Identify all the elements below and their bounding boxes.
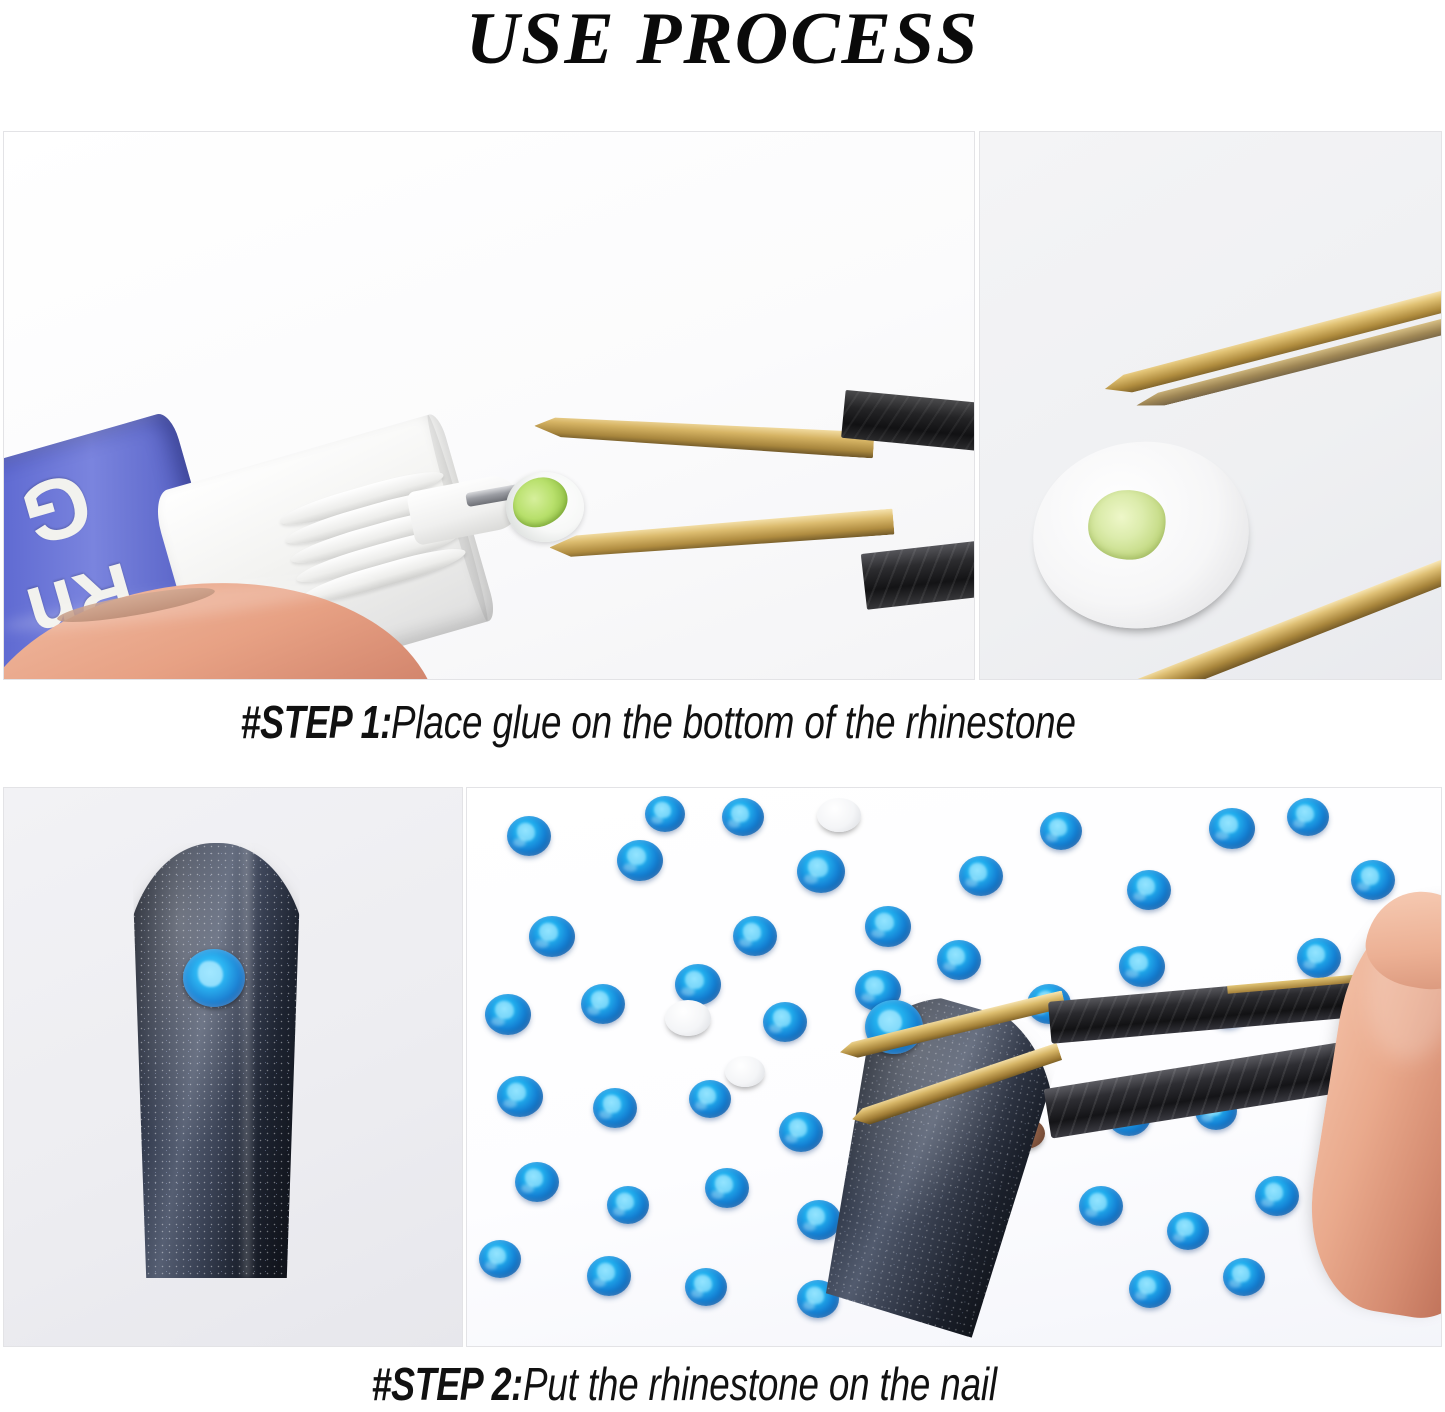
- rhinestone: [797, 1200, 841, 1240]
- rhinestone: [1223, 1258, 1265, 1296]
- rhinestone: [1167, 1212, 1209, 1250]
- rhinestone: [733, 916, 777, 956]
- step2-text: Put the rhinestone on the nail: [523, 1357, 997, 1411]
- rhinestone: [779, 1112, 823, 1152]
- rhinestone: [675, 964, 721, 1005]
- rhinestone: [479, 1240, 521, 1278]
- rhinestone: [1209, 808, 1255, 849]
- rhinestone: [485, 994, 531, 1035]
- rhinestone: [937, 940, 981, 980]
- rhinestone: [1127, 870, 1171, 910]
- rhinestone: [763, 1002, 807, 1042]
- rhinestone: [865, 906, 911, 947]
- applied-blue-rhinestone: [183, 949, 245, 1007]
- rhinestone: [497, 1076, 543, 1117]
- rhinestone-flat-back: [725, 1056, 765, 1087]
- rhinestone: [1351, 860, 1395, 900]
- step2-caption: #STEP 2:Put the rhinestone on the nail: [0, 1357, 1445, 1411]
- rhinestone: [593, 1088, 637, 1128]
- step2-tag: #STEP 2:: [372, 1357, 523, 1411]
- step1-rhinestone-backside-photo: [979, 131, 1442, 680]
- rhinestone: [1297, 938, 1341, 978]
- use-process-infographic: USE PROCESS G Rh: [0, 0, 1445, 1412]
- page-title: USE PROCESS: [0, 2, 1445, 76]
- rhinestone: [507, 816, 551, 856]
- rhinestone: [581, 984, 625, 1024]
- rhinestone: [705, 1168, 749, 1208]
- step1-tag: #STEP 1:: [240, 695, 391, 749]
- step1-caption: #STEP 1:Place glue on the bottom of the …: [0, 695, 1445, 749]
- rhinestone: [529, 916, 575, 957]
- rhinestone: [645, 796, 685, 832]
- step1-text: Place glue on the bottom of the rhinesto…: [391, 695, 1076, 749]
- press-on-nail: [124, 843, 309, 1278]
- rhinestone: [1119, 946, 1165, 987]
- rhinestone-flat-back: [665, 1000, 711, 1036]
- rhinestone: [617, 840, 663, 881]
- rhinestone: [689, 1080, 731, 1118]
- rhinestone: [1255, 1176, 1299, 1216]
- rhinestone: [722, 798, 764, 836]
- rhinestone: [797, 850, 845, 893]
- rhinestone: [1129, 1270, 1171, 1308]
- rhinestone: [959, 856, 1003, 896]
- step2-scattered-rhinestones-photo: [466, 787, 1442, 1347]
- rhinestone: [1040, 812, 1082, 850]
- label-letter-g: G: [13, 458, 101, 559]
- step2-finished-nail-photo: [3, 787, 463, 1347]
- rhinestone: [1079, 1186, 1123, 1226]
- step1-glue-bottle-photo: G Rh: [3, 131, 975, 680]
- rhinestone: [515, 1162, 559, 1202]
- rhinestone: [685, 1268, 727, 1306]
- rhinestone: [587, 1256, 631, 1296]
- rhinestone-flat-back: [817, 798, 861, 832]
- rhinestone: [1287, 798, 1329, 836]
- rhinestone: [607, 1186, 649, 1224]
